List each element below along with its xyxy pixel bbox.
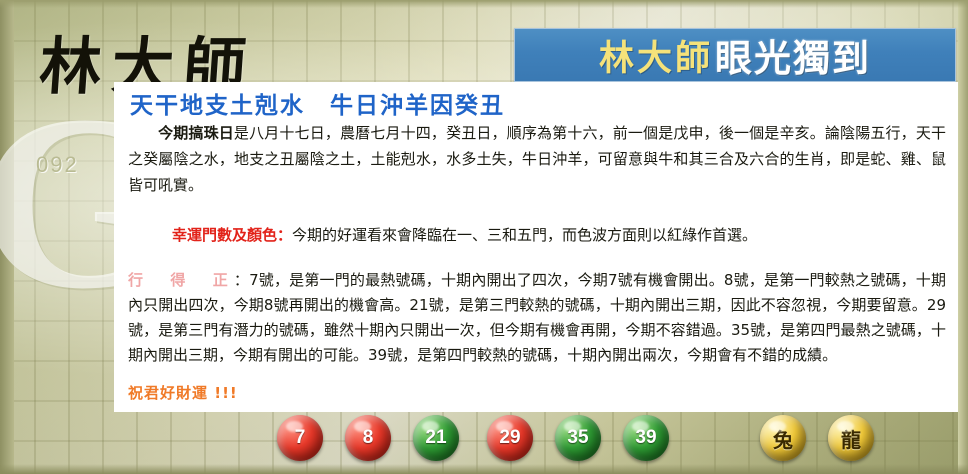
banner-slogan-text: 眼光獨到 xyxy=(715,28,871,82)
lottery-ball: 39 xyxy=(623,415,669,461)
top-edge-shadow xyxy=(0,0,968,8)
zodiac-ball: 龍 xyxy=(828,415,874,461)
ball-number: 21 xyxy=(425,427,446,449)
lottery-ball: 8 xyxy=(345,415,391,461)
article-title: 天干地支土剋水 牛日沖羊因癸丑 xyxy=(130,86,505,120)
analysis-text: ：7號，是第一門的最熱號碼，十期內開出了四次，今期7號有機會開出。8號，是第一門… xyxy=(128,271,946,364)
analysis-label: 行 得 正 xyxy=(128,271,234,289)
ball-number: 39 xyxy=(635,427,656,449)
content-panel: 天干地支土剋水 牛日沖羊因癸丑 今期搞珠日是八月十七日，農曆七月十四，癸丑日，順… xyxy=(114,82,958,412)
ball-number: 29 xyxy=(499,427,520,449)
zodiac-ball: 兔 xyxy=(760,415,806,461)
lottery-ball-row: 7821293539兔龍 xyxy=(0,415,968,471)
ball-number: 35 xyxy=(567,427,588,449)
paragraph-rest: 是八月十七日，農曆七月十四，癸丑日，順序為第十六，前一個是戊申，後一個是辛亥。論… xyxy=(128,124,946,194)
zodiac-label: 兔 xyxy=(773,424,793,453)
poster-root: G 092 林大師 林大師 眼光獨到 天干地支土剋水 牛日沖羊因癸丑 今期搞珠日… xyxy=(0,0,968,474)
article-paragraph: 今期搞珠日是八月十七日，農曆七月十四，癸丑日，順序為第十六，前一個是戊申，後一個… xyxy=(128,120,946,198)
header-banner: 林大師 眼光獨到 xyxy=(514,28,956,82)
ball-number: 7 xyxy=(295,427,306,449)
zodiac-label: 龍 xyxy=(841,424,861,453)
ball-number: 8 xyxy=(363,427,374,449)
lottery-ball: 35 xyxy=(555,415,601,461)
lottery-ball: 7 xyxy=(277,415,323,461)
lucky-paragraph: 幸運門數及顏色：今期的好運看來會降臨在一、三和五門，而色波方面則以紅綠作首選。 xyxy=(128,222,946,248)
blessing-text: 祝君好財運 !!! xyxy=(128,382,238,403)
lucky-text: 今期的好運看來會降臨在一、三和五門，而色波方面則以紅綠作首選。 xyxy=(292,226,757,244)
issue-number: 092 xyxy=(36,152,79,178)
paragraph-lead: 今期搞珠日 xyxy=(158,124,234,142)
banner-name-text: 林大師 xyxy=(599,30,713,81)
right-edge-shadow xyxy=(958,0,968,474)
lottery-ball: 29 xyxy=(487,415,533,461)
lucky-label: 幸運門數及顏色： xyxy=(172,226,292,244)
analysis-paragraph: 行 得 正：7號，是第一門的最熱號碼，十期內開出了四次，今期7號有機會開出。8號… xyxy=(128,268,946,368)
lottery-ball: 21 xyxy=(413,415,459,461)
